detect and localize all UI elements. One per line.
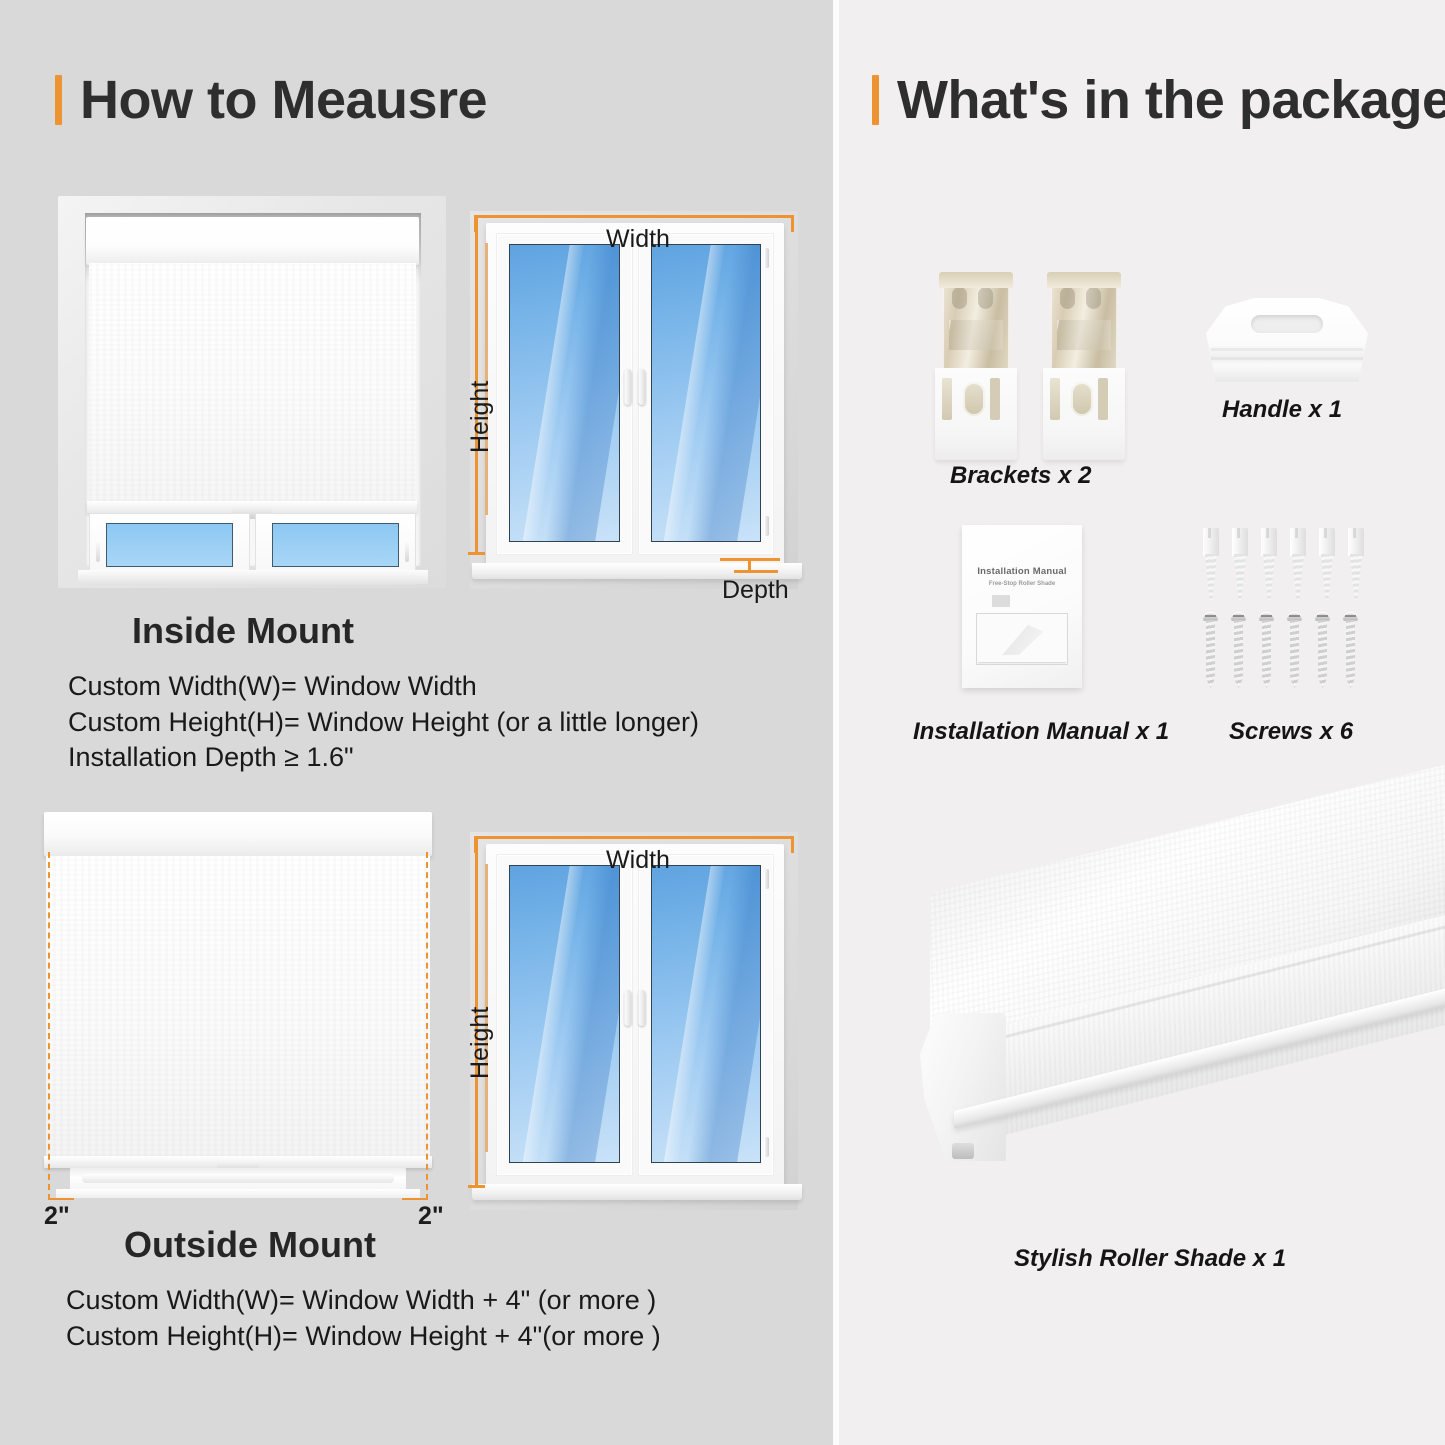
width-label: Width [578,846,698,875]
window-sill-extension [472,1184,802,1200]
bracket-white-base [935,368,1017,460]
wall-anchor [1319,528,1335,600]
window-glazing [509,244,620,542]
roller-shade-image [908,885,1436,1205]
outside-mount-specs: Custom Width(W)= Window Width + 4" (or m… [66,1283,661,1354]
how-to-measure-heading: How to Meausre [55,73,487,127]
shade-cassette [44,812,432,856]
handle-image [1206,298,1368,382]
installation-manual-label: Installation Manual x 1 [913,718,1169,746]
roller-shade-label: Stylish Roller Shade x 1 [1014,1245,1286,1273]
inside-mount-specs: Custom Width(W)= Window Width Custom Hei… [68,669,699,776]
window-handles [625,369,646,405]
depth-label: Depth [722,576,789,605]
wall-anchor [1232,528,1248,600]
wall-anchor [1348,528,1364,600]
bracket-unit [935,272,1017,460]
screw [1287,612,1302,688]
hinge-icon [765,516,769,536]
outside-mount-title: Outside Mount [124,1224,376,1266]
window-pane-left [496,233,633,555]
manual-cover-decoration [992,595,1052,607]
inside-mount-measure-diagram: Width Height Depth [458,203,806,593]
height-measure-cap-bottom [468,1185,485,1188]
width-measure-cap-right [791,215,794,232]
overhang-arrow-left [48,1198,74,1200]
window-handles [625,990,646,1026]
hinge-icon [765,248,769,268]
screw [1231,612,1246,688]
window-sill [78,570,428,584]
wall-anchor [1290,528,1306,600]
screws-image [1203,528,1378,688]
width-label: Width [578,225,698,254]
outside-spec-line: Custom Height(H)= Window Height + 4"(or … [66,1319,661,1355]
wall-anchor [1203,528,1219,600]
window-frame [486,844,784,1186]
outside-mount-shade-illustration: 2" 2" [36,812,440,1192]
window-glazing [509,865,620,1163]
height-label: Height [466,1007,495,1079]
inside-mount-title: Inside Mount [132,610,354,652]
height-inner-guide [485,243,488,515]
window-frame [486,223,784,565]
manual-cover-figure [976,613,1068,665]
window-pane-right [638,233,775,555]
sash-glass [272,523,399,567]
manual-cover-footer-lines [978,662,1066,676]
window-sill-base [56,1189,420,1198]
handle-ridge [1211,348,1363,351]
handle-body [1206,298,1368,382]
shade-fabric [89,263,416,506]
brackets-label: Brackets x 2 [950,462,1091,490]
screw [1343,612,1358,688]
outside-mount-measure-diagram: Width Height [458,824,806,1214]
installation-manual-image: Installation Manual Free-Stop Roller Sha… [962,525,1082,688]
handle-grip-slot [1251,315,1322,333]
bracket-top-flange [939,272,1013,288]
inside-mount-shade-illustration [58,196,446,588]
screws-label: Screws x 6 [1229,718,1353,746]
manual-cover-subtitle: Free-Stop Roller Shade [971,581,1073,587]
manual-cover-title: Installation Manual [971,566,1073,577]
overhang-label-right: 2" [418,1202,444,1231]
inside-spec-line: Installation Depth ≥ 1.6" [68,740,699,776]
overhang-label-left: 2" [44,1202,70,1231]
overhang-guide-left [48,852,50,1200]
width-measure-cap-right [791,836,794,853]
bracket-unit [1043,272,1125,460]
how-to-measure-panel: How to Meausre [0,0,833,1445]
depth-measure-base [734,570,778,573]
package-heading: What's in the package [872,73,1445,127]
hinge-icon [765,1137,769,1157]
infographic-page: How to Meausre [0,0,1445,1445]
roller-shade-end-cap [920,1013,1006,1161]
outside-spec-line: Custom Width(W)= Window Width + 4" (or m… [66,1283,661,1319]
screw [1259,612,1274,688]
sash-handle-icon [405,542,409,562]
height-measure-cap-bottom [468,552,485,555]
wall-anchor [1261,528,1277,600]
inside-spec-line: Custom Height(H)= Window Height (or a li… [68,705,699,741]
screws-row [1203,612,1358,688]
sash-glass [106,523,233,567]
window-pane-left [496,854,633,1176]
height-label: Height [466,381,495,453]
handle-label: Handle x 1 [1222,396,1342,424]
sash-handle-icon [96,542,100,562]
screw [1203,612,1218,688]
bracket-white-base [1043,368,1125,460]
roller-shade-rail-endcap [952,1143,974,1159]
bracket-top-flange [1047,272,1121,288]
wall-anchors-row [1203,528,1364,600]
brackets-image [935,272,1125,460]
how-to-measure-heading-text: How to Meausre [80,73,487,127]
width-measure-line [474,836,794,839]
overhang-arrow-right [402,1198,428,1200]
accent-bar-icon [872,75,879,125]
window-glazing [651,865,762,1163]
window-glazing [651,244,762,542]
window-pane-right [638,854,775,1176]
screw [1315,612,1330,688]
width-measure-line [474,215,794,218]
shade-fabric [46,856,430,1156]
overhang-guide-right [426,852,428,1200]
hinge-icon [765,869,769,889]
accent-bar-icon [55,75,62,125]
shade-cassette [86,217,419,265]
package-heading-text: What's in the package [897,73,1445,127]
inside-spec-line: Custom Width(W)= Window Width [68,669,699,705]
